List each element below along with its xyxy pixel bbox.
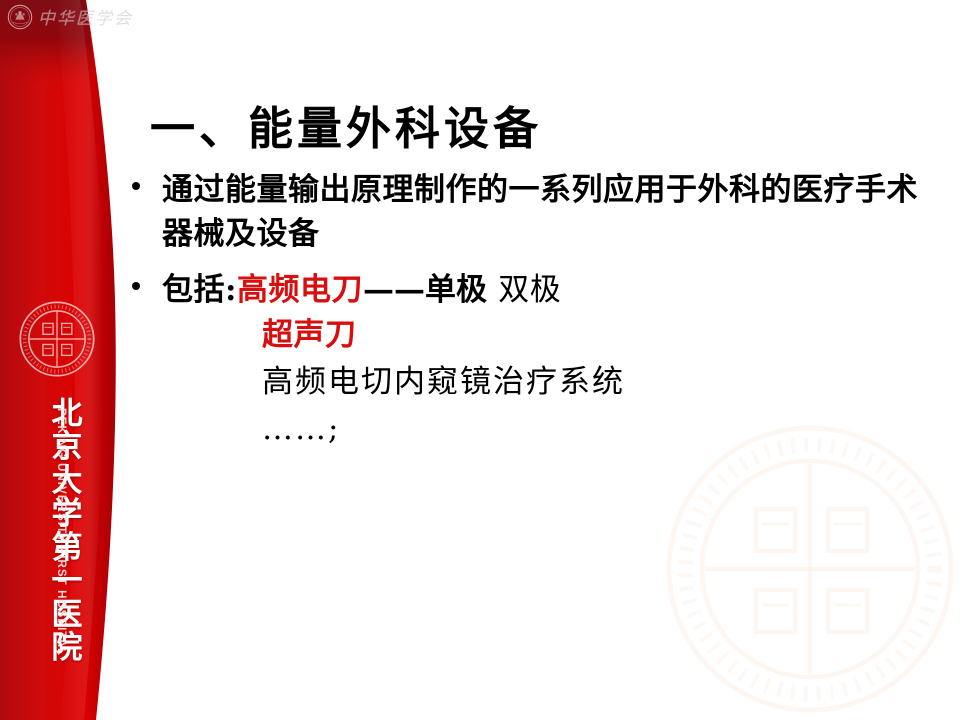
sub-line-ultrasonic-scalpel: 超声刀 xyxy=(262,312,932,359)
bullet-dot-icon xyxy=(132,268,162,290)
page-title: 一、能量外科设备 xyxy=(150,92,542,157)
bullet-dot-icon xyxy=(132,168,162,190)
header-calligraphy-text: 中华医学会 xyxy=(38,4,158,32)
bullet-2-keyword-highlight: 高频电刀 xyxy=(237,272,363,308)
hospital-name-char: 院 xyxy=(44,632,90,665)
bullet-item-2: 包括:高频电刀——单极 双极 xyxy=(132,268,932,312)
bullet-2-sublist: 超声刀 高频电切内窥镜治疗系统 ……; xyxy=(262,312,932,453)
sub-line-ellipsis: ……; xyxy=(262,406,932,453)
hospital-seal-icon xyxy=(18,300,96,378)
hospital-name-vertical-cn: 北 京 大 学 第 一 医 院 xyxy=(44,398,90,666)
hospital-name-char: 医 xyxy=(44,599,90,632)
hospital-name-char: 一 xyxy=(44,565,90,598)
bullet-2-tail-text: 双极 xyxy=(498,272,561,308)
sub-line-endoscopic-system: 高频电切内窥镜治疗系统 xyxy=(262,359,932,406)
bullet-item-1: 通过能量输出原理制作的一系列应用于外科的医疗手术器械及设备 xyxy=(132,168,932,256)
bullet-2-dash-text: ——单极 xyxy=(363,272,487,308)
bullet-2-text: 包括:高频电刀——单极 双极 xyxy=(162,268,932,312)
slide-canvas: 中华医学会 北 京 大 学 第 一 医 院 PEKING UNIVERSITY … xyxy=(0,0,960,720)
hospital-name-char: 大 xyxy=(44,465,90,498)
hospital-name-char: 京 xyxy=(44,431,90,464)
hospital-seal-watermark xyxy=(660,418,960,720)
hospital-name-char: 北 xyxy=(44,398,90,431)
hospital-name-char: 第 xyxy=(44,532,90,565)
bullet-1-text: 通过能量输出原理制作的一系列应用于外科的医疗手术器械及设备 xyxy=(162,168,932,256)
china-medical-association-seal-icon xyxy=(7,4,33,30)
header-strip: 中华医学会 xyxy=(0,0,260,36)
slide-body: 通过能量输出原理制作的一系列应用于外科的医疗手术器械及设备 包括:高频电刀——单… xyxy=(132,168,932,453)
hospital-name-char: 学 xyxy=(44,498,90,531)
bullet-2-prefix: 包括: xyxy=(162,272,237,308)
hospital-name-vertical-en: PEKING UNIVERSITY FIRST HOSPITAL xyxy=(55,408,67,628)
